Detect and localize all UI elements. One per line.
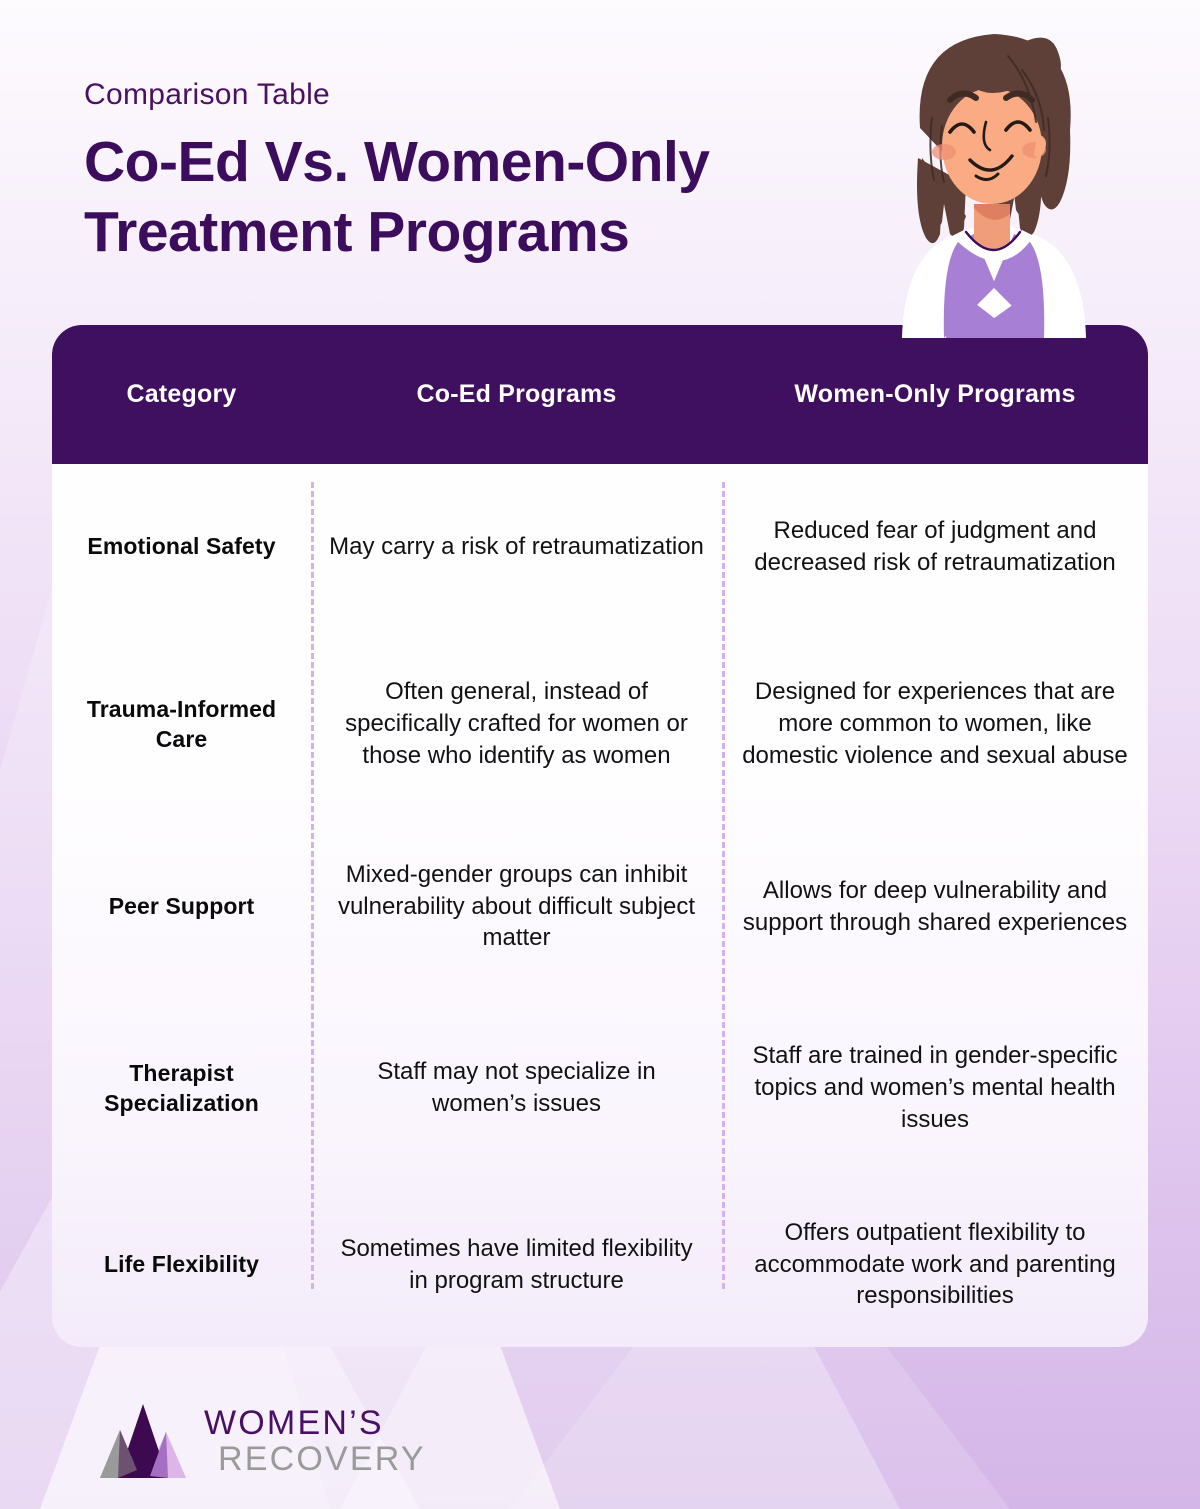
- table-body: Emotional Safety May carry a risk of ret…: [52, 464, 1148, 1347]
- page-title-line-1: Co-Ed Vs. Women-Only: [84, 130, 710, 194]
- table-header-row: Category Co-Ed Programs Women-Only Progr…: [52, 325, 1148, 464]
- row-category: Trauma-Informed Care: [52, 694, 311, 755]
- table-row: Peer Support Mixed-gender groups can inh…: [52, 819, 1148, 994]
- table-row: Life Flexibility Sometimes have limited …: [52, 1182, 1148, 1347]
- page-header: Comparison Table Co-Ed Vs. Women-Only Tr…: [84, 78, 884, 267]
- womens-recovery-logo: WOMEN’S RECOVERY: [100, 1398, 426, 1484]
- column-header-category: Category: [52, 380, 311, 409]
- eyebrow-label: Comparison Table: [84, 78, 884, 112]
- column-header-coed: Co-Ed Programs: [311, 380, 722, 409]
- row-category: Peer Support: [52, 891, 311, 921]
- table-row: Emotional Safety May carry a risk of ret…: [52, 464, 1148, 629]
- comparison-table-card: Category Co-Ed Programs Women-Only Progr…: [52, 325, 1148, 1347]
- row-women-value: Reduced fear of judgment and decreased r…: [722, 515, 1148, 579]
- row-coed-value: Often general, instead of specifically c…: [311, 676, 722, 772]
- row-women-value: Offers outpatient flexibility to accommo…: [722, 1217, 1148, 1313]
- table-row: Trauma-Informed Care Often general, inst…: [52, 629, 1148, 819]
- row-women-value: Designed for experiences that are more c…: [722, 676, 1148, 772]
- table-row: Therapist Specialization Staff may not s…: [52, 994, 1148, 1182]
- row-women-value: Staff are trained in gender-specific top…: [722, 1040, 1148, 1136]
- logo-wordmark: WOMEN’S RECOVERY: [204, 1406, 426, 1476]
- column-header-women-only: Women-Only Programs: [722, 380, 1148, 409]
- row-women-value: Allows for deep vulnerability and suppor…: [722, 875, 1148, 939]
- row-coed-value: May carry a risk of retraumatization: [311, 531, 722, 563]
- row-coed-value: Staff may not specialize in women’s issu…: [311, 1056, 722, 1120]
- page-title-line-2: Treatment Programs: [84, 200, 629, 264]
- row-category: Emotional Safety: [52, 531, 311, 561]
- logo-line-womens: WOMEN’S: [204, 1406, 426, 1440]
- row-category: Life Flexibility: [52, 1249, 311, 1279]
- row-category: Therapist Specialization: [52, 1058, 311, 1119]
- mountain-triangles-icon: [100, 1398, 186, 1484]
- page-title: Co-Ed Vs. Women-Only Treatment Programs: [84, 128, 884, 267]
- row-coed-value: Mixed-gender groups can inhibit vulnerab…: [311, 859, 722, 955]
- row-coed-value: Sometimes have limited flexibility in pr…: [311, 1233, 722, 1297]
- smiling-woman-illustration: [862, 8, 1122, 338]
- logo-line-recovery: RECOVERY: [218, 1442, 426, 1476]
